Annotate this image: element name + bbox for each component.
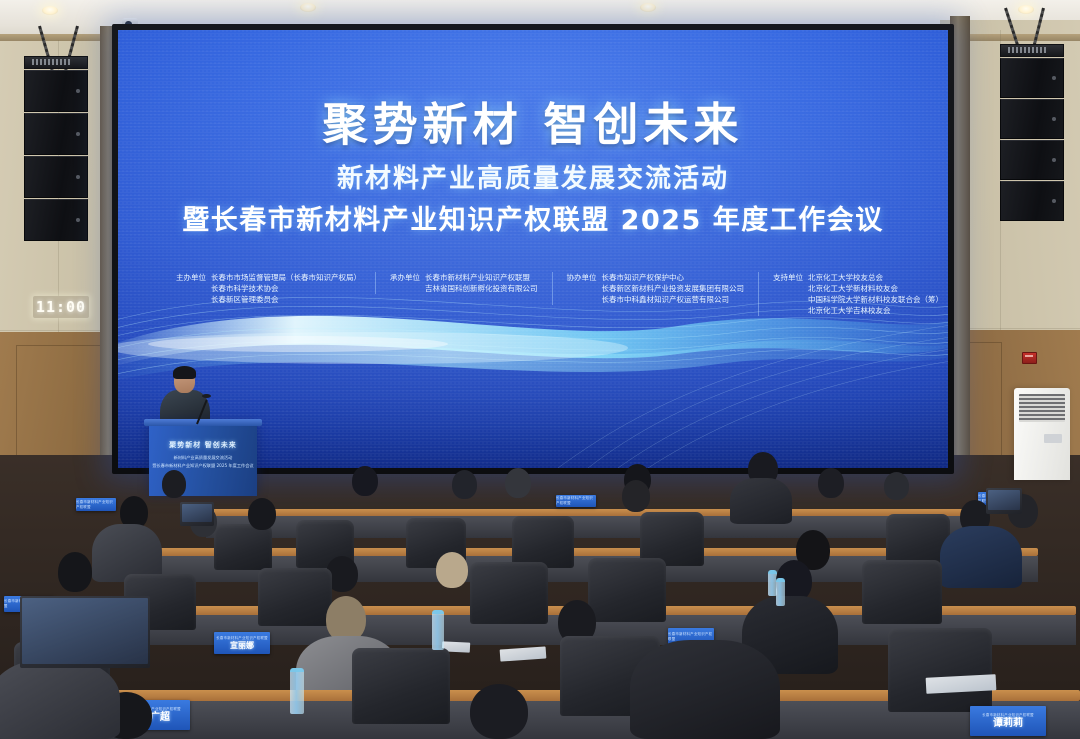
credit-org: 长春新区新材料产业投资发展集团有限公司 [602,283,745,294]
event-title: 聚势新材 智创未来 [118,88,948,153]
chair [352,648,450,724]
credit-org: 长春市知识产权保护中心 [602,272,745,283]
credit-label: 协办单位 [567,272,597,305]
credit-column-supporter: 支持单位 北京化工大学校友总会 北京化工大学新材料校友会 中国科学院大学新材料校… [758,272,948,316]
audience-torso [730,478,792,524]
line-array-speaker-left [24,56,88,246]
credit-org: 长春新区管理委员会 [211,294,361,305]
credit-org-list: 长春市新材料产业知识产权联盟 吉林省国科创新孵化投资有限公司 [425,272,538,294]
speaker-frame-cap [24,56,88,69]
speaker-module [24,70,88,112]
credit-org: 长春市科学技术协会 [211,283,361,294]
audience-head [884,472,909,500]
audience-head [58,552,92,592]
nameplate-org: 长春市新材料产业知识产权联盟 [76,500,116,510]
speaker-module [24,199,88,241]
clock-time: 11:00 [36,300,86,315]
credit-label: 主办单位 [176,272,206,305]
audience-head [505,468,531,498]
audience-head [622,480,650,512]
ceiling-light [300,3,316,12]
nameplate: 长春市新材料产业知识产权联盟 宣丽娜 [214,632,270,654]
speaker-frame-cap [1000,44,1064,57]
audience-head [818,468,844,498]
desk-monitor [986,488,1022,514]
credit-label: 支持单位 [773,272,803,316]
credit-column-co-organizer: 协办单位 长春市知识产权保护中心 长春新区新材料产业投资发展集团有限公司 长春市… [552,272,759,305]
desk-monitor-foreground [20,596,150,668]
fire-alarm-icon [1022,352,1037,364]
credit-column-host: 主办单位 长春市市场监督管理局（长春市知识产权局） 长春市科学技术协会 长春新区… [176,272,375,305]
audience-head [162,470,186,498]
ac-grill [1019,394,1065,422]
nameplate: 长春市新材料产业知识产权联盟 [556,495,596,507]
desk-monitor [180,502,214,526]
credit-org-list: 长春市市场监督管理局（长春市知识产权局） 长春市科学技术协会 长春新区管理委员会 [211,272,361,305]
chair [888,628,992,712]
podium-banner-title: 聚势新材 智创未来 [149,440,257,450]
led-screen: 聚势新材 智创未来 新材料产业高质量发展交流活动 暨长春市新材料产业知识产权联盟… [118,30,948,468]
nameplate: 长春市新材料产业知识产权联盟 [76,498,116,511]
chair [862,560,942,624]
speaker-module [1000,140,1064,180]
speaker-module [1000,181,1064,221]
credit-org-list: 北京化工大学校友总会 北京化工大学新材料校友会 中国科学院大学新材料校友联合会（… [808,272,943,316]
microphone-head [202,394,211,398]
ac-panel [1044,434,1062,443]
speaker-module [24,113,88,155]
podium-top-surface [144,419,262,426]
credit-org: 吉林省国科创新孵化投资有限公司 [425,283,538,294]
credit-org: 长春市中科鑫材知识产权运营有限公司 [602,294,745,305]
audience-head [436,552,468,588]
credit-org-list: 长春市知识产权保护中心 长春新区新材料产业投资发展集团有限公司 长春市中科鑫材知… [602,272,745,305]
audience-head [452,470,477,499]
speaker-brand-mark [32,59,69,65]
nameplate-org: 长春市新材料产业知识产权联盟 [556,496,596,506]
chair [258,568,332,626]
credit-org: 长春市市场监督管理局（长春市知识产权局） [211,272,361,283]
air-conditioner [1014,388,1070,480]
speaker-module [24,156,88,198]
event-subtitle-1: 新材料产业高质量发展交流活动 [118,158,948,195]
audience-torso [940,526,1022,588]
line-array-speaker-right [1000,44,1064,224]
audience-head [352,466,378,496]
water-bottle [432,610,444,650]
nameplate-foreground-right[interactable]: 长春市新材料产业知识产权联盟 谭莉莉 [970,706,1046,736]
speaker-brand-mark [1008,47,1045,53]
water-bottle [776,578,785,606]
audience-head [470,684,528,739]
organizer-credits: 主办单位 长春市市场监督管理局（长春市知识产权局） 长春市科学技术协会 长春新区… [176,272,892,316]
water-bottle [290,668,304,714]
credit-column-organizer: 承办单位 长春市新材料产业知识产权联盟 吉林省国科创新孵化投资有限公司 [375,272,552,294]
podium-banner-sub-2: 暨长春市新材料产业知识产权联盟 2025 年度工作会议 [149,462,257,469]
ceiling-light [640,3,656,12]
audience-torso-foreground [0,660,120,739]
credit-org: 北京化工大学校友总会 [808,272,943,283]
chair [470,562,548,624]
ceiling-light [1018,5,1034,14]
chair [214,524,272,570]
ceiling-light [42,6,58,15]
desk-surface [206,509,986,516]
credit-org: 中国科学院大学新材料校友联合会（筹） [808,294,943,305]
credit-org: 长春市新材料产业知识产权联盟 [425,272,538,283]
audience-torso-foreground [630,640,780,739]
speaker-module [1000,99,1064,139]
credit-label: 承办单位 [390,272,420,294]
credit-org: 北京化工大学吉林校友会 [808,305,943,316]
event-subtitle-2: 暨长春市新材料产业知识产权联盟 2025 年度工作会议 [118,198,948,237]
podium-banner-sub-1: 新材料产业高质量发展交流活动 [149,454,257,461]
chair [588,558,666,622]
speaker-module [1000,58,1064,98]
nameplate-name: 谭莉莉 [993,718,1023,730]
credit-org: 北京化工大学新材料校友会 [808,283,943,294]
chair [512,516,574,568]
nameplate-name: 宣丽娜 [230,641,254,650]
audience-head [248,498,276,530]
conference-hall-photo: 11:00 [0,0,1080,739]
wall-clock: 11:00 [33,296,89,318]
presenter-hair [173,366,196,379]
